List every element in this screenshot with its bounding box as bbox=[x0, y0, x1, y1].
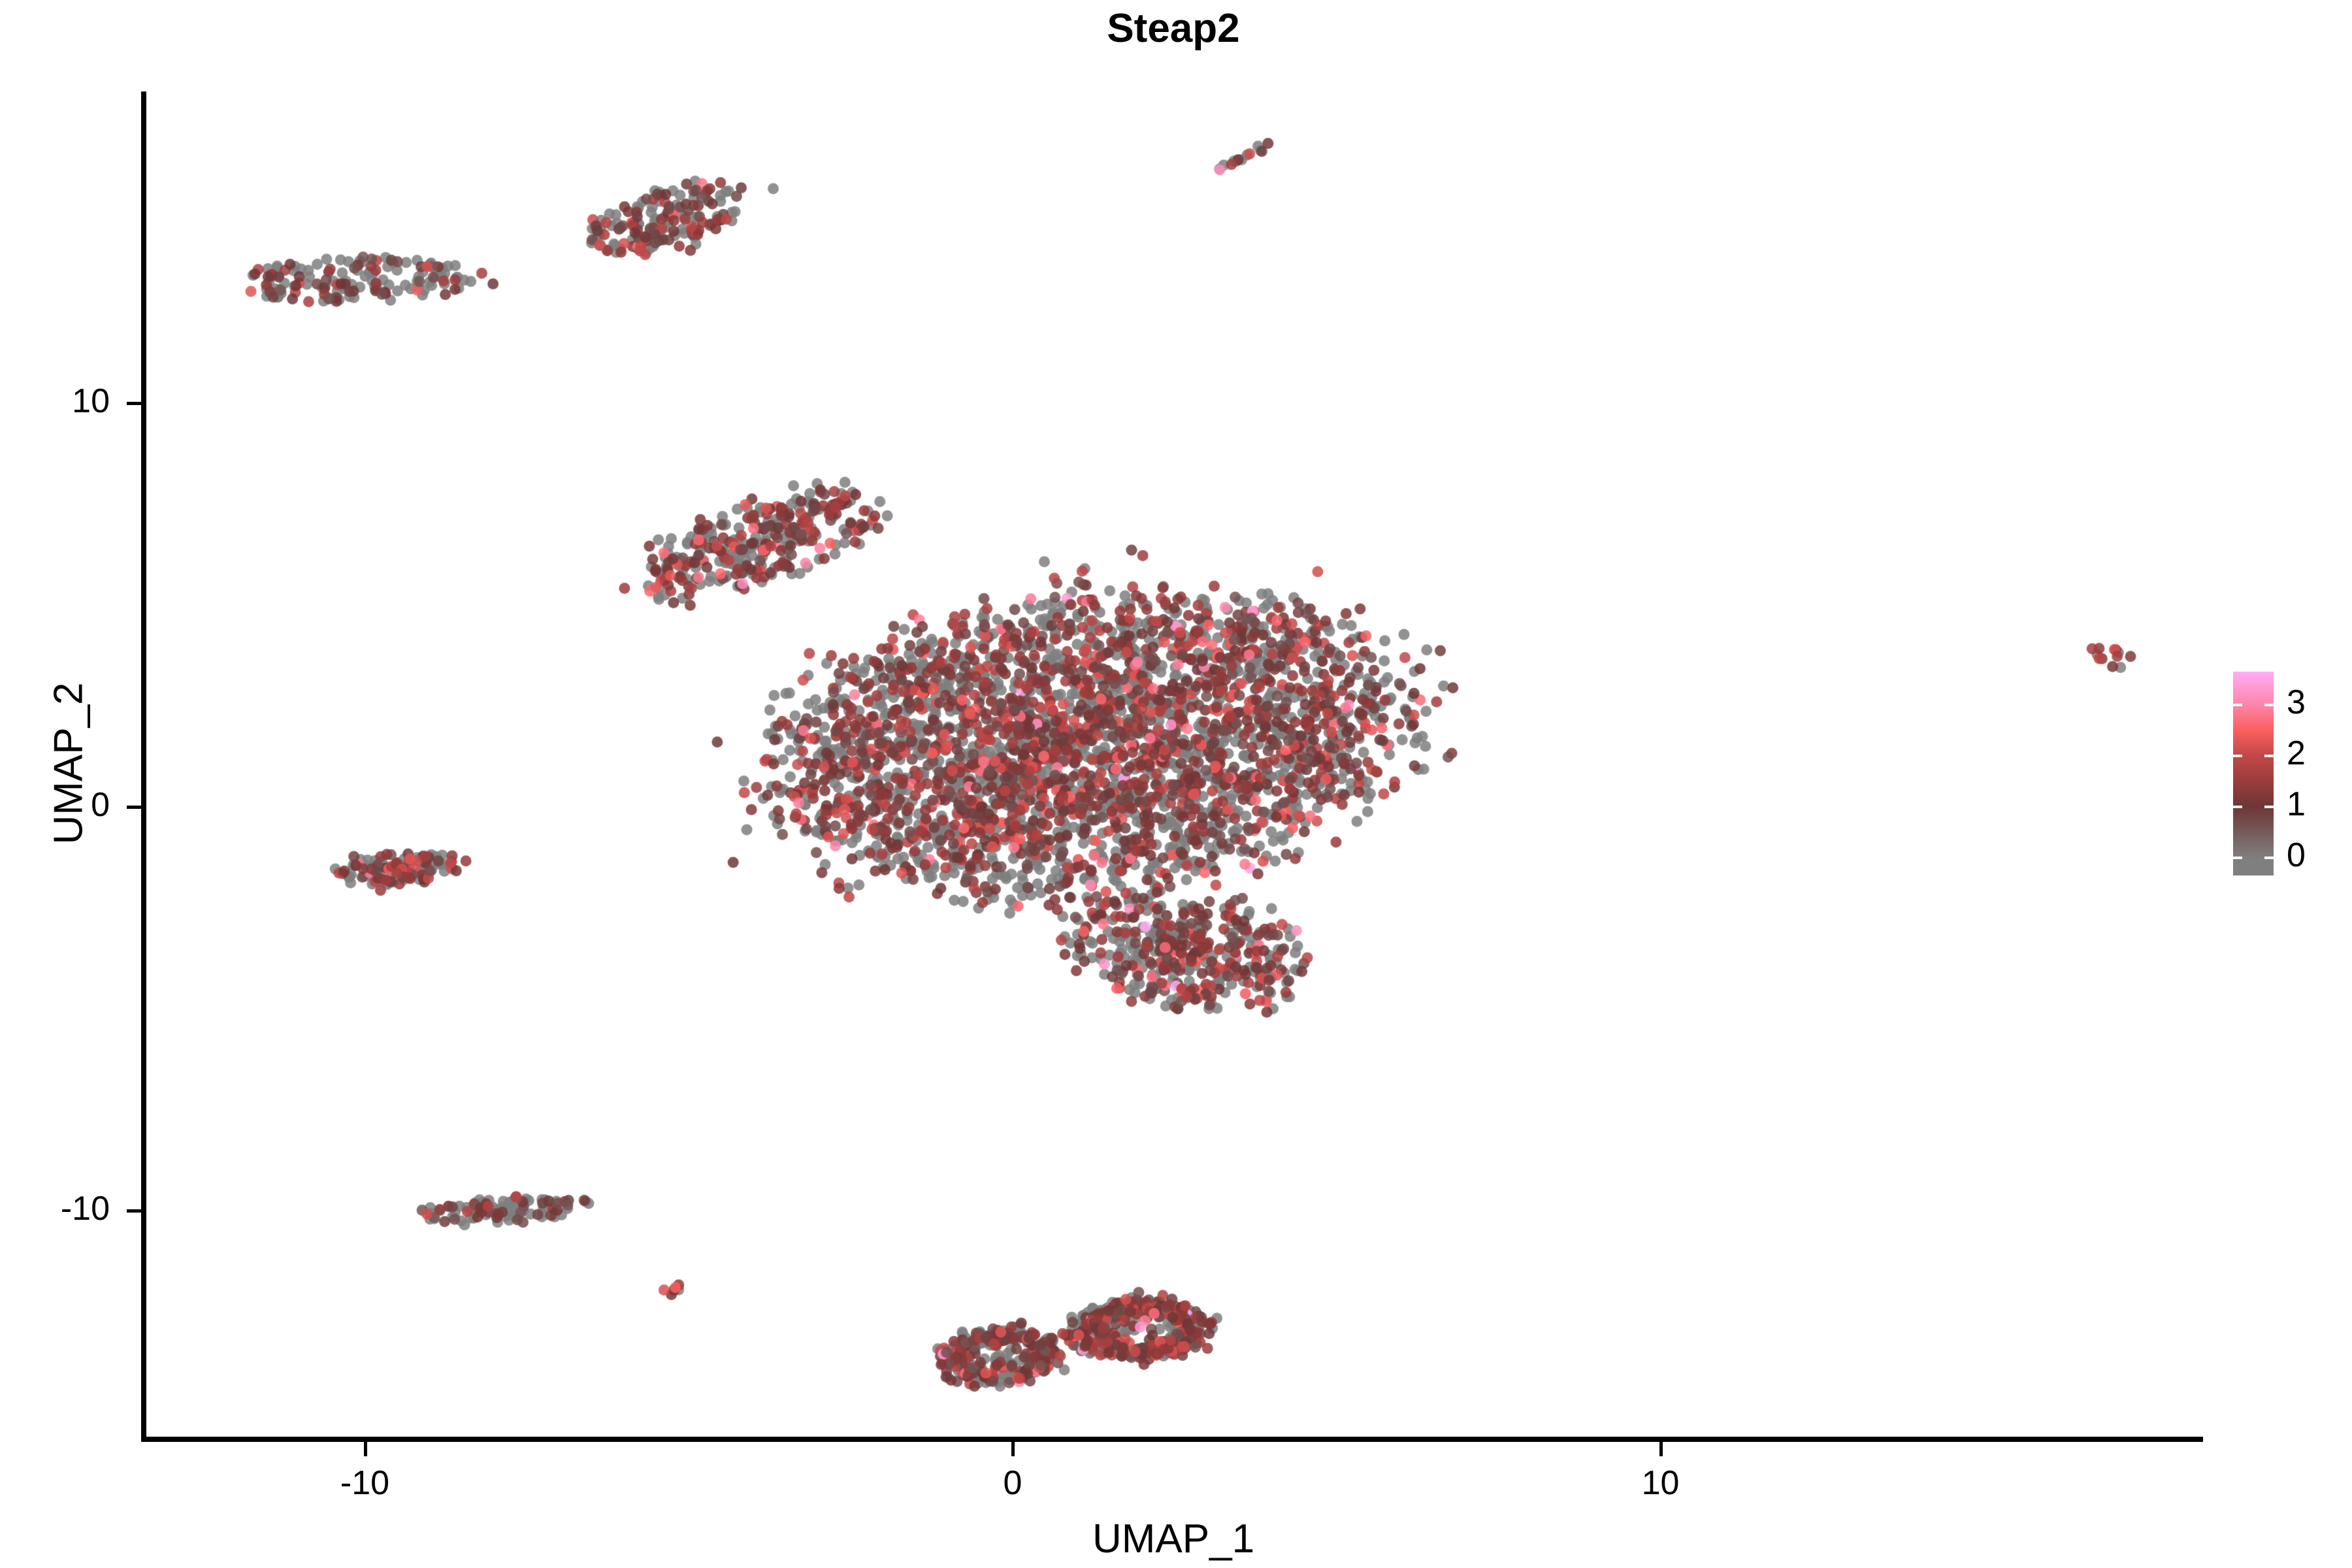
colorbar-label-3: 3 bbox=[2287, 685, 2306, 719]
colorbar-tick-2-left bbox=[2233, 755, 2242, 757]
colorbar-legend: 3 2 1 0 bbox=[2233, 672, 2344, 875]
x-axis-tick-label-neg10: -10 bbox=[267, 1463, 463, 1503]
y-axis-tick-label-10: 10 bbox=[0, 382, 110, 421]
plot-panel bbox=[144, 91, 2203, 1441]
colorbar-tick-3-left bbox=[2233, 704, 2242, 706]
colorbar-tick-3-right bbox=[2264, 704, 2274, 706]
colorbar-gradient bbox=[2233, 672, 2274, 875]
y-axis-title: UMAP_2 bbox=[46, 567, 92, 959]
colorbar-label-1: 1 bbox=[2287, 787, 2306, 821]
x-axis-tick-10 bbox=[1659, 1442, 1663, 1456]
y-axis-tick-0 bbox=[127, 806, 141, 809]
colorbar-tick-0-left bbox=[2233, 857, 2242, 859]
colorbar-tick-0-right bbox=[2264, 857, 2274, 859]
scatter-points-canvas bbox=[144, 91, 2203, 1441]
y-axis-tick-10 bbox=[127, 402, 141, 405]
x-axis-tick-neg10 bbox=[364, 1442, 367, 1456]
x-axis-tick-0 bbox=[1011, 1442, 1015, 1456]
x-axis-title: UMAP_1 bbox=[977, 1516, 1369, 1562]
chart-root: Steap2 10 0 -10 -10 0 10 UMAP_2 UMAP_1 3… bbox=[0, 0, 2352, 1568]
colorbar-label-2: 2 bbox=[2287, 736, 2306, 770]
y-axis-tick-neg10 bbox=[127, 1209, 141, 1213]
y-axis-line bbox=[141, 91, 146, 1442]
x-axis-tick-label-10: 10 bbox=[1563, 1463, 1759, 1503]
colorbar-label-0: 0 bbox=[2287, 838, 2306, 872]
page-title: Steap2 bbox=[0, 5, 2349, 52]
y-axis-tick-label-neg10: -10 bbox=[0, 1189, 110, 1228]
colorbar-tick-1-left bbox=[2233, 806, 2242, 808]
colorbar-tick-2-right bbox=[2264, 755, 2274, 757]
colorbar-tick-1-right bbox=[2264, 806, 2274, 808]
x-axis-line bbox=[144, 1437, 2203, 1442]
x-axis-tick-label-0: 0 bbox=[915, 1463, 1111, 1503]
